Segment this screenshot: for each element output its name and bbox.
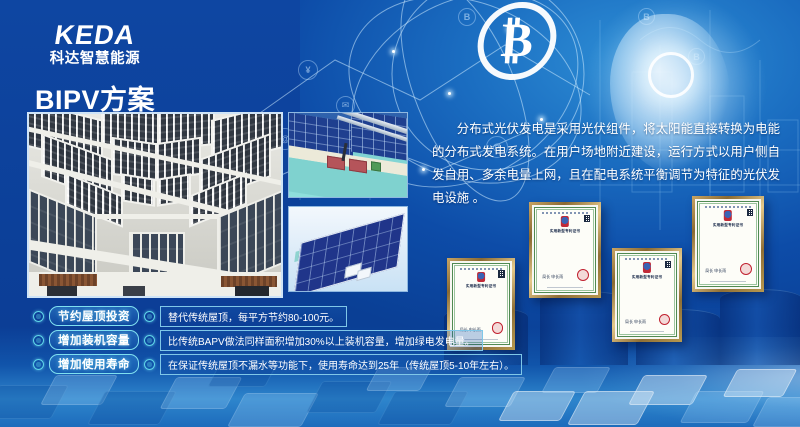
certificate-frame: 实用新型专利证书 局长 申长雨 [529,202,601,298]
red-seal-icon [659,314,671,326]
certificate-signature: 局长 申长雨 [705,268,726,274]
certificate-card[interactable]: 实用新型专利证书 局长 申长雨 [612,248,682,342]
benefit-description: 在保证传统屋顶不漏水等功能下，使用寿命达到25年（传统屋顶5-10年左右）。 [160,354,522,375]
bitcoin-glyph: ₿ [499,17,534,65]
logo-subtitle: 科达智慧能源 [33,52,157,68]
certificate-title: 实用新型专利证书 [618,275,676,280]
certificate-card[interactable]: 实用新型专利证书 局长 申长雨 [529,202,601,298]
patent-emblem-icon [643,262,651,273]
certificate-frame: 实用新型专利证书 局长 申长雨 [612,248,682,342]
red-seal-icon [740,263,752,275]
certificate-signature: 局长 申长雨 [542,274,563,280]
bullet-ring-icon [144,311,155,322]
qr-code-icon [747,209,754,217]
qr-code-icon [498,270,504,277]
benefit-tag: 增加使用寿命 [49,354,139,374]
pv-mounting-detail-diagram [288,112,408,198]
qr-code-icon [584,215,591,223]
bitcoin-icon: B [458,8,476,26]
benefit-row: 增加使用寿命 在保证传统屋顶不漏水等功能下，使用寿命达到25年（传统屋顶5-10… [33,354,473,374]
benefit-description: 替代传统屋顶，每平方节约80-100元。 [160,306,347,327]
pv-roof-array-diagram [288,206,408,292]
bullet-ring-icon [33,311,44,322]
bipv-atrium-skylight-photo [27,112,283,298]
bullet-ring-icon [33,359,44,370]
qr-code-icon [665,261,671,268]
brand-logo[interactable]: KEDA 科达智慧能源 [33,22,157,68]
benefits-list: 节约屋顶投资 替代传统屋顶，每平方节约80-100元。 增加装机容量 比传统BA… [33,306,473,378]
benefit-tag: 增加装机容量 [49,330,139,350]
certificate-title: 实用新型专利证书 [535,229,595,234]
certificate-signature: 局长 申长雨 [625,319,646,325]
red-seal-icon [492,322,503,333]
certificate-title: 实用新型专利证书 [698,223,758,228]
touch-ripple-icon [648,52,694,98]
benefit-row: 增加装机容量 比传统BAPV做法同样面积增加30%以上装机容量，增加绿电发电量。 [33,330,473,350]
red-seal-icon [577,269,589,281]
patent-emblem-icon [561,216,569,227]
benefit-description: 比传统BAPV做法同样面积增加30%以上装机容量，增加绿电发电量。 [160,330,483,351]
certificate-title: 实用新型专利证书 [453,284,509,289]
atrium-interior-image [29,114,281,296]
certificate-card[interactable]: 实用新型专利证书 局长 申长雨 [692,196,764,292]
patent-emblem-icon [724,210,732,221]
certificate-frame: 实用新型专利证书 局长 申长雨 [692,196,764,292]
logo-wordmark: KEDA [31,22,159,49]
benefit-row: 节约屋顶投资 替代传统屋顶，每平方节约80-100元。 [33,306,473,326]
bullet-ring-icon [144,335,155,346]
bullet-ring-icon [144,359,155,370]
bullet-ring-icon [33,335,44,346]
yen-icon: ¥ [298,60,318,80]
slide-canvas: ¥ @ ✉ B @ B B B ₿ [0,0,800,427]
benefit-tag: 节约屋顶投资 [49,306,139,326]
patent-emblem-icon [477,272,485,282]
